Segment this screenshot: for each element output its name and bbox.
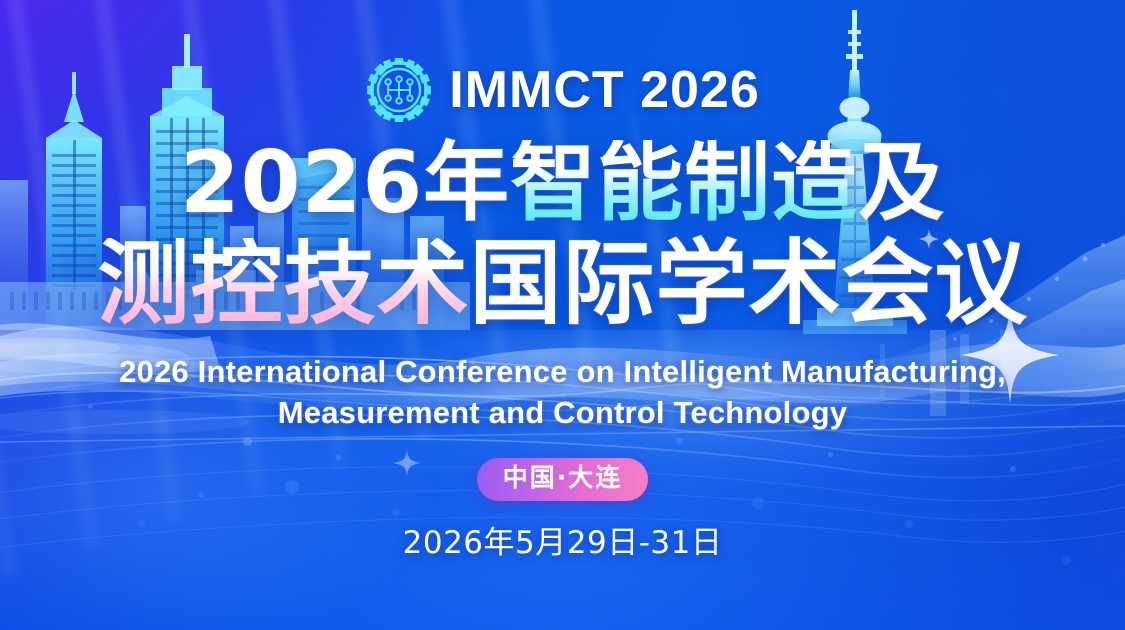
title-cn-line1: 2026年 智能制造 及	[180, 140, 945, 226]
title-cn-line1-part1: 2026年	[180, 140, 510, 226]
logo-row: IMMCT 2026	[365, 56, 760, 124]
subtitle-en-line2: Measurement and Control Technology	[33, 393, 1093, 434]
conference-banner: IMMCT 2026 2026年 智能制造 及 测控技术 国际学术会议 2026…	[0, 0, 1125, 630]
title-cn-line2: 测控技术 国际学术会议	[97, 238, 1027, 330]
gear-circuit-icon	[365, 56, 433, 124]
banner-content: IMMCT 2026 2026年 智能制造 及 测控技术 国际学术会议 2026…	[0, 0, 1125, 630]
subtitle-en-line1: 2026 International Conference on Intelli…	[33, 352, 1093, 393]
title-cn-line2-part1: 测控技术	[97, 238, 469, 330]
title-cn-line2-part2: 国际学术会议	[470, 238, 1028, 330]
title-cn-line1-part3: 及	[858, 140, 945, 226]
date-text: 2026年5月29日-31日	[403, 517, 723, 562]
subtitle-en: 2026 International Conference on Intelli…	[33, 352, 1093, 434]
brand-title: IMMCT 2026	[449, 64, 760, 116]
title-cn-line1-part2: 智能制造	[510, 140, 858, 226]
location-badge: 中国·大连	[477, 458, 649, 501]
